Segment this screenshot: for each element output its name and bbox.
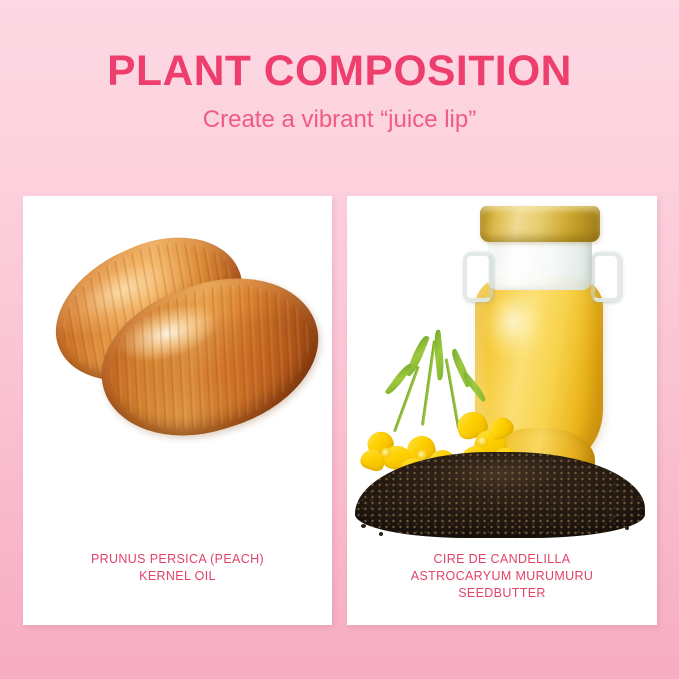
seed-speck — [361, 524, 366, 528]
caption-line: PRUNUS PERSICA (PEACH) — [23, 551, 332, 568]
seed-speck — [609, 516, 614, 521]
ingredient-card-candelilla-murumuru: CIRE DE CANDELILLA ASTROCARYUM MURUMURU … — [347, 196, 657, 625]
page-subtitle: Create a vibrant “juice lip” — [0, 105, 679, 135]
card-caption-peach: PRUNUS PERSICA (PEACH) KERNEL OIL — [23, 551, 332, 585]
ingredient-card-peach-kernel-oil: PRUNUS PERSICA (PEACH) KERNEL OIL — [23, 196, 332, 625]
plant-composition-poster: PLANT COMPOSITION Create a vibrant “juic… — [0, 0, 679, 679]
flower-leaf — [432, 330, 445, 381]
jar-clip-right-icon — [591, 252, 621, 302]
caption-line: ASTROCARYUM MURUMURU — [347, 568, 657, 585]
oil-jar-illustration — [347, 196, 657, 546]
flower-core — [381, 448, 391, 458]
card-caption-candelilla: CIRE DE CANDELILLA ASTROCARYUM MURUMURU … — [347, 551, 657, 602]
caption-line: CIRE DE CANDELILLA — [347, 551, 657, 568]
flower-core — [477, 436, 488, 447]
jar-clip-left-icon — [463, 252, 493, 302]
almond-illustration — [23, 196, 332, 546]
seed-speck — [379, 532, 383, 536]
caption-line: SEEDBUTTER — [347, 585, 657, 602]
header: PLANT COMPOSITION Create a vibrant “juic… — [0, 46, 679, 135]
jar-lid-icon — [480, 206, 600, 242]
jar-neck-icon — [488, 238, 592, 290]
page-title: PLANT COMPOSITION — [3, 46, 675, 96]
seed-speck — [625, 526, 629, 530]
seed-speck — [637, 496, 642, 500]
flower-leaf — [461, 372, 488, 403]
caption-line: KERNEL OIL — [23, 568, 332, 585]
